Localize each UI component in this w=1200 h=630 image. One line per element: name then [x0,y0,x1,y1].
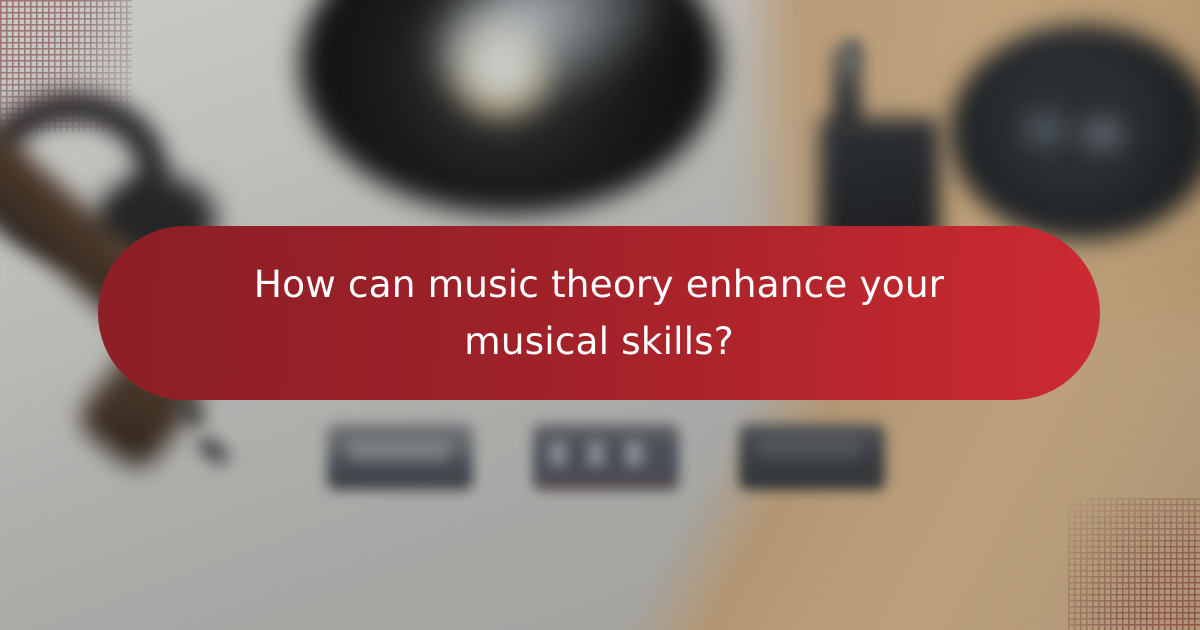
headline-title: How can music theory enhance your musica… [218,256,980,370]
social-card: How can music theory enhance your musica… [0,0,1200,630]
headline-banner: How can music theory enhance your musica… [98,226,1100,400]
